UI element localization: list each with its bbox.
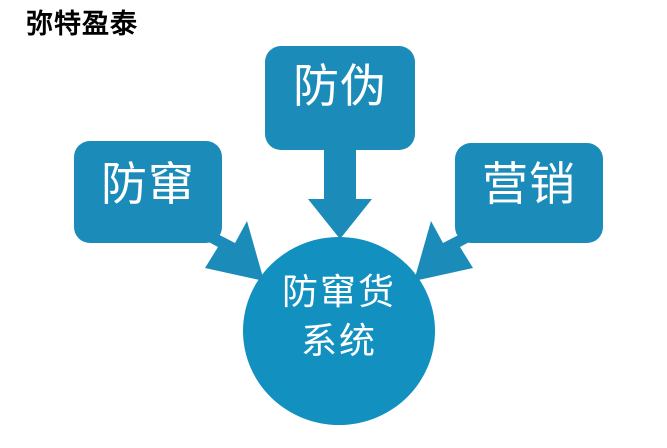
diagram-graphics — [0, 0, 667, 448]
node-box-right[interactable] — [455, 143, 603, 243]
arrow-left-to-center — [190, 221, 264, 281]
arrow-top-to-center — [308, 150, 372, 239]
diagram-canvas: 弥特盈泰 防窜 防伪 营销 防窜货 系统 — [0, 0, 667, 448]
node-box-top[interactable] — [265, 46, 415, 150]
arrow-right-to-center — [414, 221, 488, 281]
node-box-left[interactable] — [74, 141, 222, 243]
page-title: 弥特盈泰 — [26, 8, 138, 40]
center-circle[interactable] — [243, 237, 435, 425]
